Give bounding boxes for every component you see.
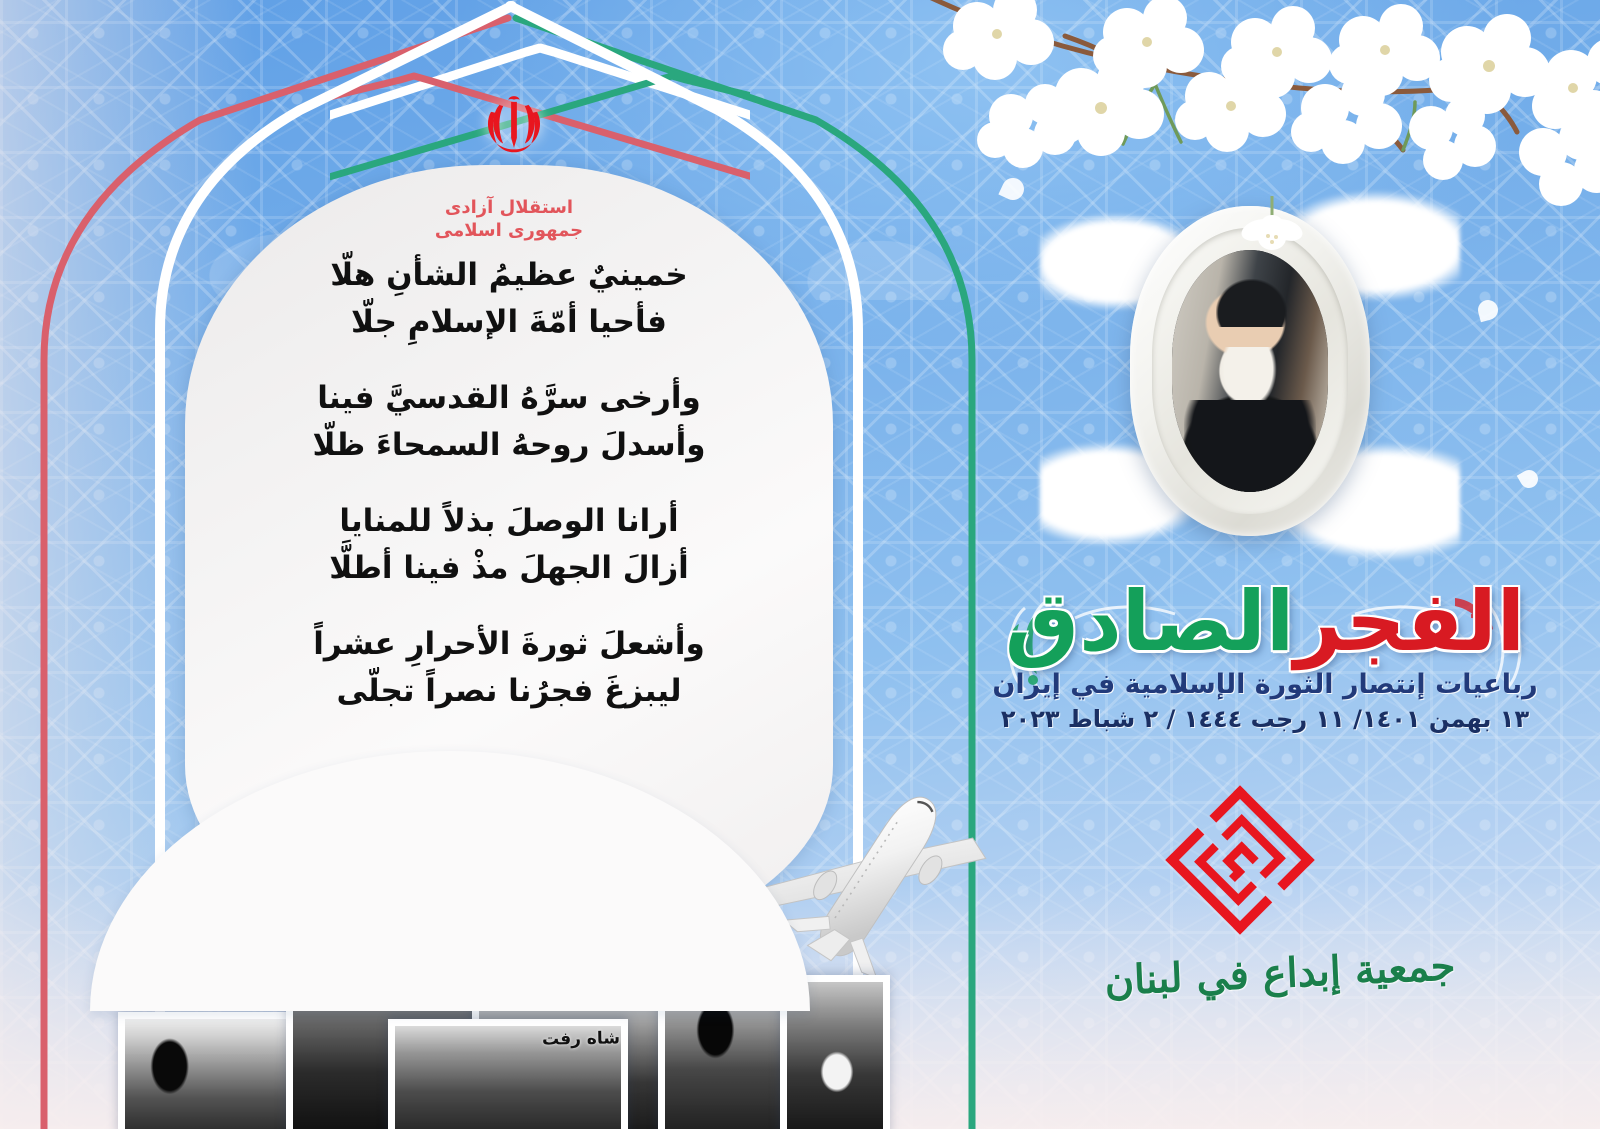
khomeini-portrait xyxy=(1172,250,1328,492)
poem-verse: أزالَ الجهلَ مذْ فينا أطلَّا xyxy=(185,545,833,592)
poem-stanza: وأشعلَ ثورةَ الأحرارِ عشراً ليبزغَ فجرُن… xyxy=(185,621,833,714)
poem-stanza: أرانا الوصلَ بذلاً للمنايا أزالَ الجهلَ … xyxy=(185,498,833,591)
poem-stanza: وأرخى سرَّهُ القدسيَّ فينا وأسدلَ روحهُ … xyxy=(185,375,833,468)
portrait-robe xyxy=(1184,400,1315,492)
newspaper-headline: شاه رفت xyxy=(542,1028,620,1049)
window-glass xyxy=(1172,250,1328,492)
event-logo-title-green: الصادق xyxy=(1005,573,1294,670)
poem-verse: وأرخى سرَّهُ القدسيَّ فينا xyxy=(185,375,833,422)
event-logo-title: الفجرالصادق xyxy=(985,580,1545,665)
poem-stanza: خمينيٌ عظيمُ الشأنِ هلّا فأحيا أمّةَ الإ… xyxy=(185,252,833,345)
event-logo: الفجرالصادق رباعيات إنتصار الثورة الإسلا… xyxy=(985,580,1545,733)
poem-body: خمينيٌ عظيمُ الشأنِ هلّا فأحيا أمّةَ الإ… xyxy=(185,252,833,714)
portrait-turban xyxy=(1216,279,1288,327)
poem-verse: وأسدلَ روحهُ السمحاءَ ظلّا xyxy=(185,422,833,469)
poem-verse: فأحيا أمّةَ الإسلامِ جلّا xyxy=(185,299,833,346)
poem-verse: خمينيٌ عظيمُ الشأنِ هلّا xyxy=(185,252,833,299)
window-middle-frame xyxy=(1152,228,1348,514)
poem-verse: ليبزغَ فجرُنا نصراً تجلّى xyxy=(185,668,833,715)
event-logo-date: ١٣ بهمن ١٤٠١/ ١١ رجب ١٤٤٤ / ٢ شباط ٢٠٢٣ xyxy=(985,705,1545,733)
event-logo-title-red: الفجر xyxy=(1294,573,1525,670)
airplane-window xyxy=(1100,196,1400,556)
photo-item: شاه رفت xyxy=(388,1019,628,1129)
iran-emblem-icon xyxy=(478,86,550,158)
poem-verse: أرانا الوصلَ بذلاً للمنايا xyxy=(185,498,833,545)
photo-item xyxy=(118,1012,304,1129)
poem-verse: وأشعلَ ثورةَ الأحرارِ عشراً xyxy=(185,621,833,668)
photo-crowd-with-portrait-banner xyxy=(125,1019,297,1129)
blossom-over-window-icon xyxy=(1232,196,1312,266)
event-logo-subtitle: رباعيات إنتصار الثورة الإسلامية في إيران xyxy=(985,669,1545,700)
poster-canvas: استقلال آزادی جمهوری اسلامی خمينيٌ عظيمُ… xyxy=(0,0,1600,1129)
